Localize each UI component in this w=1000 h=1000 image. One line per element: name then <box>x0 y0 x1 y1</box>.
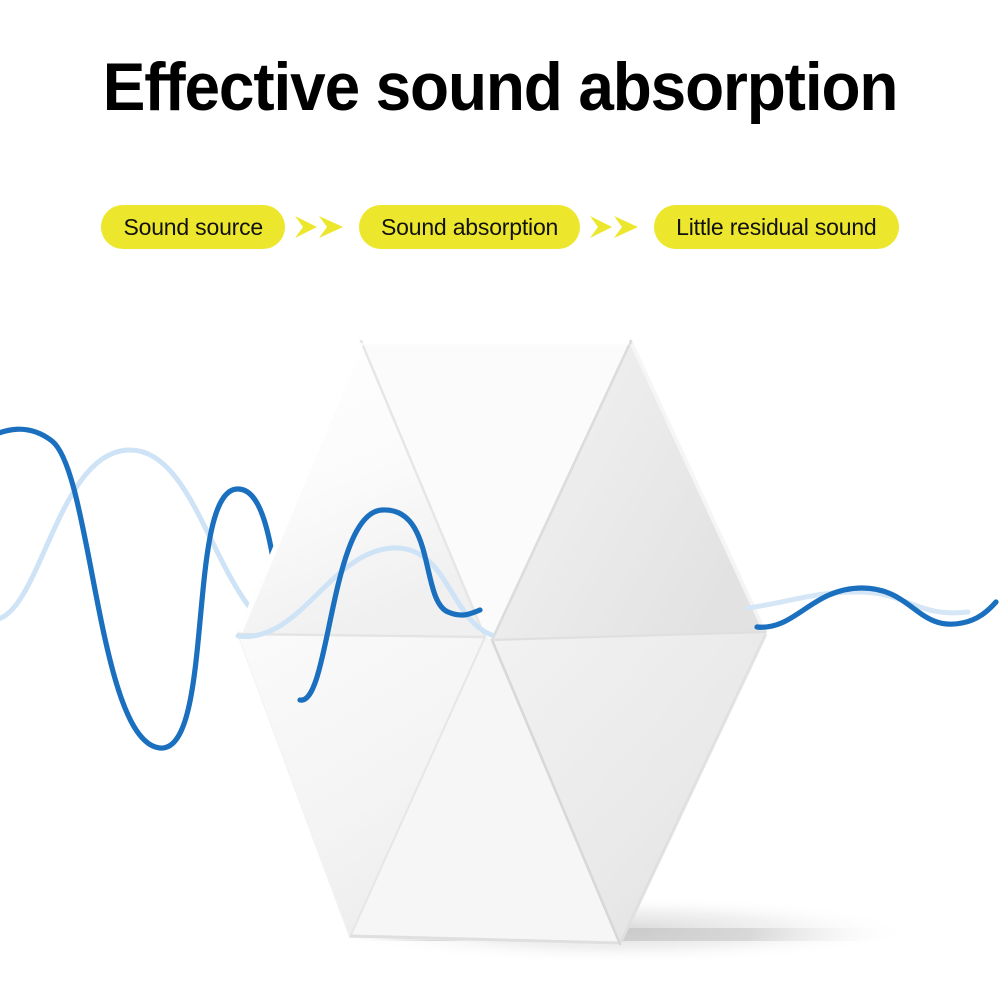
double-chevron-right-icon-2 <box>580 205 654 249</box>
residual-faint-wave <box>748 592 968 613</box>
flow-step-sound-absorption: Sound absorption <box>359 205 580 249</box>
flow-step-label: Sound source <box>123 214 263 241</box>
process-flow: Sound source Sound absorption Little res… <box>0 203 1000 251</box>
page-title: Effective sound absorption <box>30 48 970 126</box>
flow-step-label: Sound absorption <box>381 214 558 241</box>
flow-step-little-residual-sound: Little residual sound <box>654 205 898 249</box>
scene-svg <box>0 0 1000 1000</box>
flow-step-sound-source: Sound source <box>101 205 285 249</box>
flow-step-label: Little residual sound <box>676 214 876 241</box>
illustration-scene <box>0 0 1000 1000</box>
product-feature-image: Effective sound absorption Sound source … <box>0 0 1000 1000</box>
double-chevron-right-icon-1 <box>285 205 359 249</box>
acoustic-panel <box>238 341 766 944</box>
